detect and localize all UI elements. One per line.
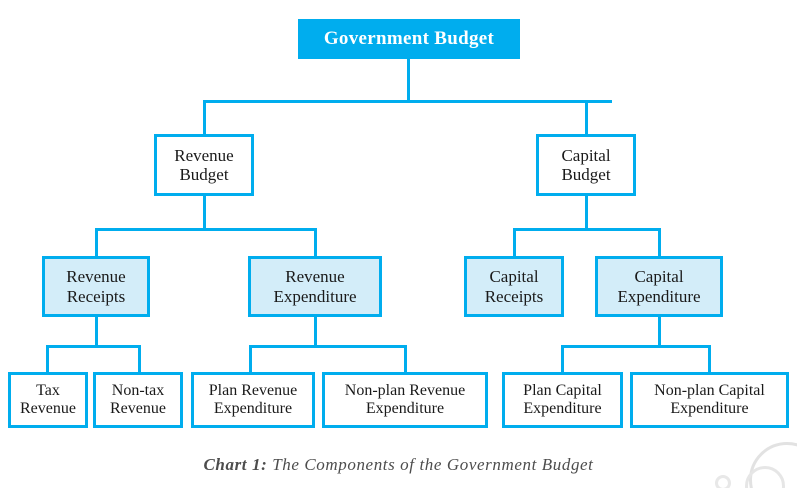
connector-to-non-plan-revenue-expenditure xyxy=(404,345,407,373)
node-capital-budget[interactable]: Capital Budget xyxy=(536,134,636,196)
connector-to-capital-expenditure xyxy=(658,228,661,257)
connector-revenue-budget-stem xyxy=(203,195,206,230)
node-revenue-expenditure[interactable]: Revenue Expenditure xyxy=(248,256,382,317)
caption-label: Chart 1: xyxy=(203,455,267,474)
node-revenue-budget[interactable]: Revenue Budget xyxy=(154,134,254,196)
connector-to-plan-revenue-expenditure xyxy=(249,345,252,373)
connector-revenue-expenditure-bus xyxy=(249,345,407,348)
connector-to-revenue-receipts xyxy=(95,228,98,257)
connector-level2-bus xyxy=(203,100,612,103)
connector-to-capital-budget xyxy=(585,100,588,135)
node-revenue-receipts[interactable]: Revenue Receipts xyxy=(42,256,150,317)
connector-to-plan-capital-expenditure xyxy=(561,345,564,373)
node-non-tax-revenue[interactable]: Non-tax Revenue xyxy=(93,372,183,428)
node-capital-expenditure[interactable]: Capital Expenditure xyxy=(595,256,723,317)
connector-revenue-expenditure-stem xyxy=(314,316,317,348)
node-capital-receipts[interactable]: Capital Receipts xyxy=(464,256,564,317)
caption-text: The Components of the Government Budget xyxy=(272,455,593,474)
connector-capital-expenditure-bus xyxy=(561,345,711,348)
connector-to-tax-revenue xyxy=(46,345,49,373)
corner-arc-small-icon xyxy=(715,475,731,488)
connector-to-revenue-expenditure xyxy=(314,228,317,257)
chart-canvas: Government Budget Revenue Budget Capital… xyxy=(0,0,797,488)
chart-caption: Chart 1: The Components of the Governmen… xyxy=(0,455,797,475)
connector-root-stem xyxy=(407,58,410,102)
connector-to-capital-receipts xyxy=(513,228,516,257)
connector-to-revenue-budget xyxy=(203,100,206,135)
connector-capital-level3-bus xyxy=(513,228,661,231)
connector-revenue-receipts-stem xyxy=(95,316,98,348)
node-plan-capital-expenditure[interactable]: Plan Capital Expenditure xyxy=(502,372,623,428)
connector-revenue-receipts-bus xyxy=(46,345,141,348)
connector-capital-budget-stem xyxy=(585,195,588,230)
connector-to-non-tax-revenue xyxy=(138,345,141,373)
node-plan-revenue-expenditure[interactable]: Plan Revenue Expenditure xyxy=(191,372,315,428)
node-government-budget[interactable]: Government Budget xyxy=(298,19,520,59)
connector-capital-expenditure-stem xyxy=(658,316,661,348)
connector-to-non-plan-capital-expenditure xyxy=(708,345,711,373)
node-tax-revenue[interactable]: Tax Revenue xyxy=(8,372,88,428)
connector-revenue-level3-bus xyxy=(95,228,317,231)
node-non-plan-capital-expenditure[interactable]: Non-plan Capital Expenditure xyxy=(630,372,789,428)
node-non-plan-revenue-expenditure[interactable]: Non-plan Revenue Expenditure xyxy=(322,372,488,428)
